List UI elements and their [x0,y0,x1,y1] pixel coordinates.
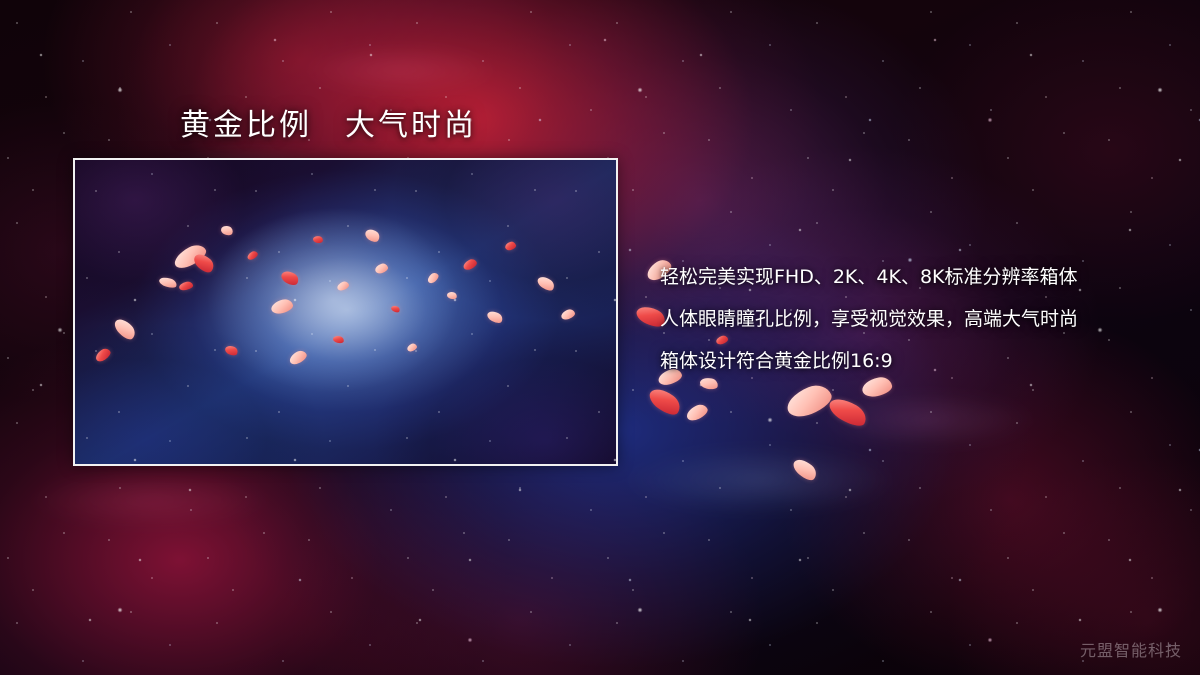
petal [826,393,871,430]
photo-starfield [75,160,616,464]
petal [790,455,820,483]
body-line-1: 轻松完美实现FHD、2K、4K、8K标准分辨率箱体 [660,256,1165,298]
petal [783,380,835,421]
body-copy-block: 轻松完美实现FHD、2K、4K、8K标准分辨率箱体 人体眼睛瞳孔比例，享受视觉效… [660,256,1165,382]
presentation-slide: 黄金比例 大气时尚 轻松完美实现FHD、2K、4K、8K标准分辨率箱体 人体眼睛… [0,0,1200,675]
body-line-3: 箱体设计符合黄金比例16:9 [660,340,1165,382]
petal [684,402,709,423]
framed-photo [73,158,618,466]
body-line-2: 人体眼睛瞳孔比例，享受视觉效果，高端大气时尚 [660,298,1165,340]
company-watermark: 元盟智能科技 [1080,637,1182,661]
photo-content [75,160,616,464]
petal [646,384,685,419]
slide-headline: 黄金比例 大气时尚 [180,100,477,144]
